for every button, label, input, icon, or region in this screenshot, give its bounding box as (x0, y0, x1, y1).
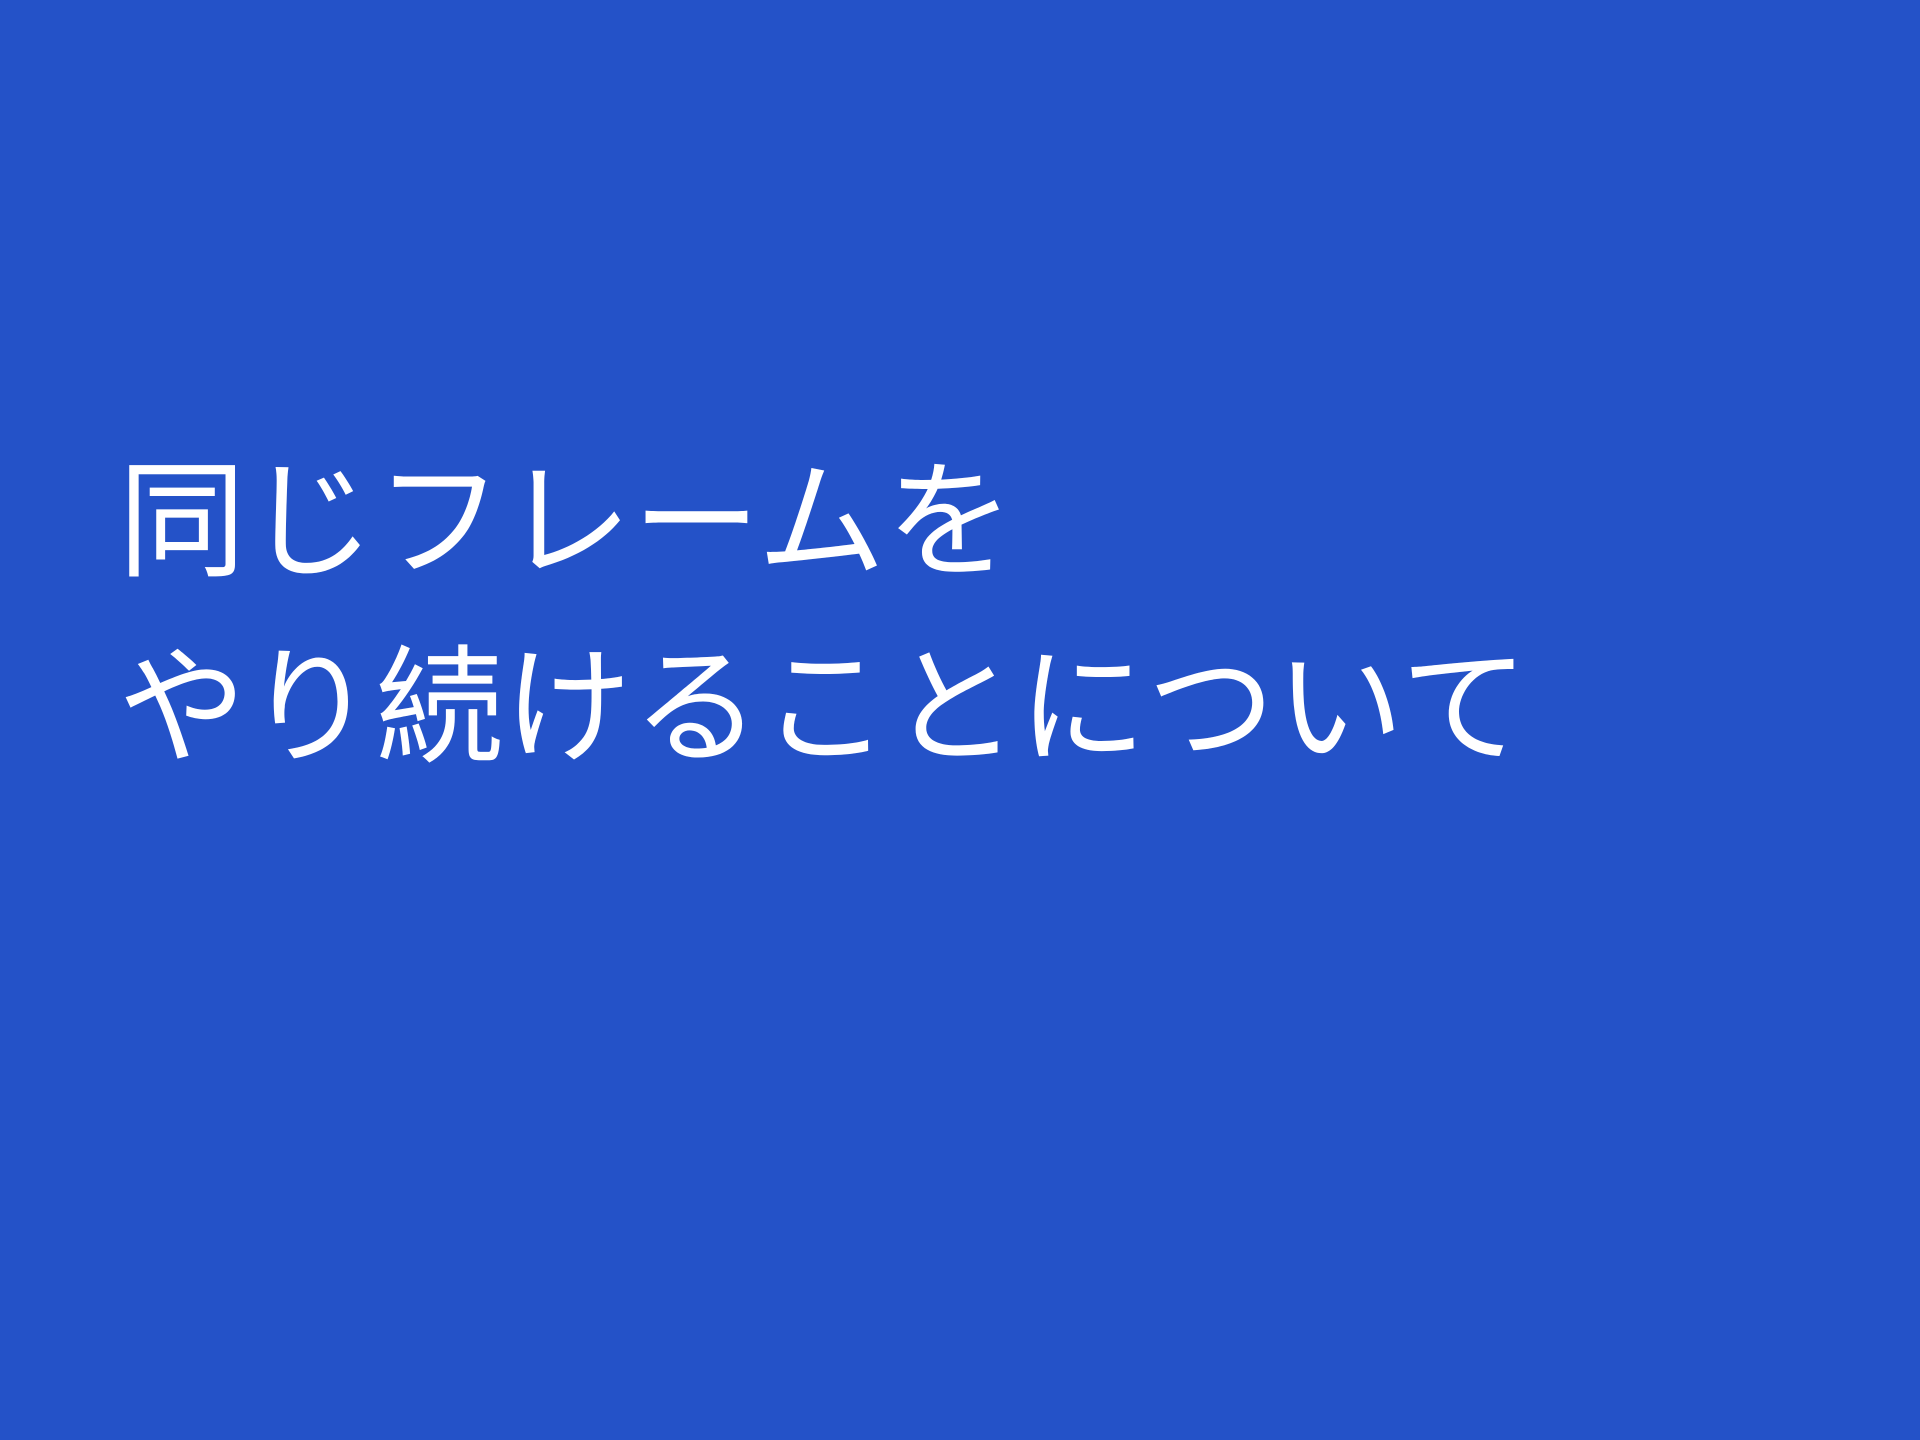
slide-title: 同じフレームを やり続けることについて (118, 430, 1838, 801)
title-line-2: やり続けることについて (118, 616, 1838, 802)
title-line-1: 同じフレームを (118, 430, 1838, 616)
presentation-slide: 同じフレームを やり続けることについて (0, 0, 1920, 1440)
